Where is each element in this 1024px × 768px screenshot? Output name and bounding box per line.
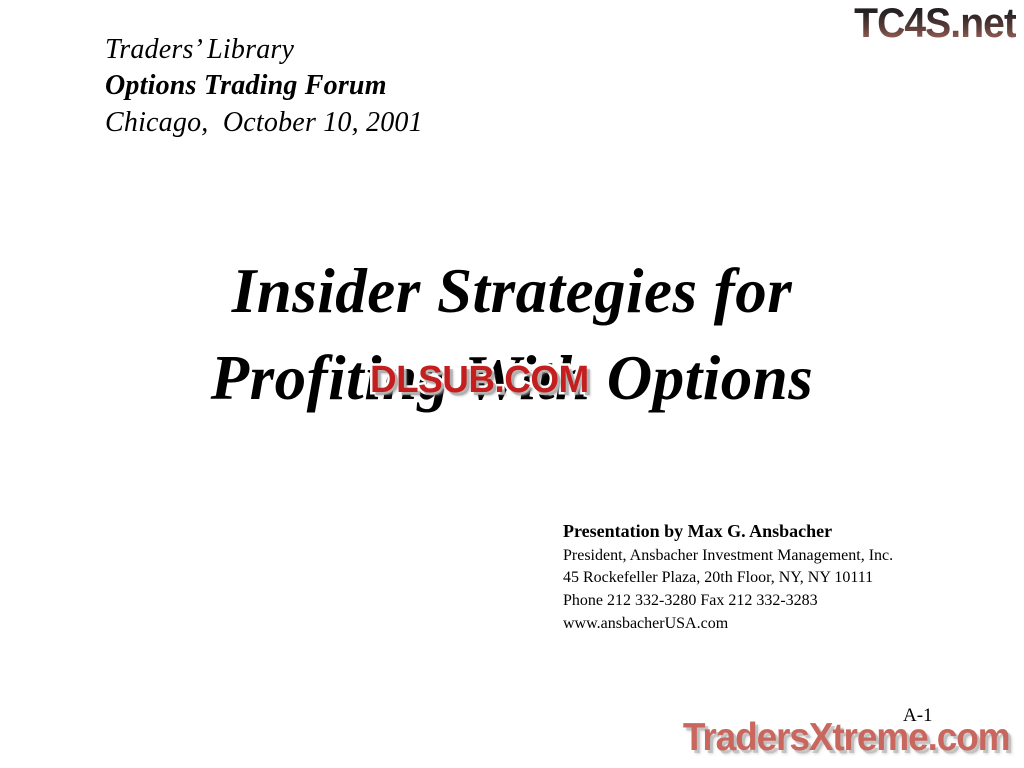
event-name: Options Trading Forum	[105, 68, 423, 104]
event-location-date: Chicago, October 10, 2001	[105, 105, 423, 141]
page-title-line-1: Insider Strategies for	[0, 248, 1024, 335]
presenter-info: Presentation by Max G. Ansbacher Preside…	[563, 519, 893, 636]
presenter-name: Presentation by Max G. Ansbacher	[563, 519, 893, 545]
presenter-website: www.ansbacherUSA.com	[563, 613, 893, 636]
event-header: Traders’ Library Options Trading Forum C…	[105, 32, 423, 141]
dlsub-watermark: DLSUB.COM	[368, 358, 591, 402]
tradersxtreme-watermark: TradersXtreme.com	[681, 716, 1011, 759]
presenter-role: President, Ansbacher Investment Manageme…	[563, 545, 893, 568]
presentation-slide: Traders’ Library Options Trading Forum C…	[0, 0, 1024, 768]
presenter-address: 45 Rockefeller Plaza, 20th Floor, NY, NY…	[563, 567, 893, 590]
tc4s-watermark: TC4S.net	[854, 2, 1016, 44]
presenter-contact: Phone 212 332-3280 Fax 212 332-3283	[563, 590, 893, 613]
event-organizer: Traders’ Library	[105, 32, 423, 68]
